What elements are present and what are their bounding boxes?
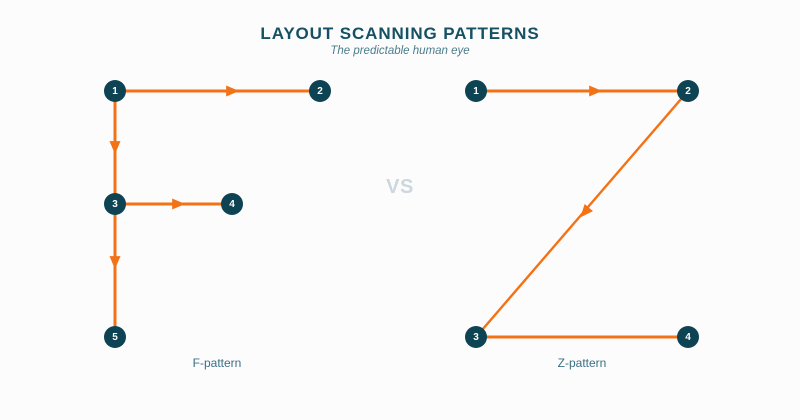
infographic-canvas: LAYOUT SCANNING PATTERNS The predictable… [0,0,800,420]
z-pattern-arrowhead-1-2 [589,86,602,97]
f-pattern-node-2[interactable]: 2 [309,80,331,102]
z-pattern-node-label-4: 4 [685,332,691,343]
f-pattern-arrowhead-1-3 [110,141,121,154]
f-pattern-node-label-4: 4 [229,199,235,210]
f-pattern-arrowhead-3-5 [110,256,121,269]
f-pattern-node-1[interactable]: 1 [104,80,126,102]
f-pattern-node-3[interactable]: 3 [104,193,126,215]
f-pattern-node-label-1: 1 [112,86,118,97]
z-pattern-node-2[interactable]: 2 [677,80,699,102]
z-pattern-node-1[interactable]: 1 [465,80,487,102]
f-pattern-node-5[interactable]: 5 [104,326,126,348]
f-pattern-arrowhead-1-2 [226,86,239,97]
z-pattern-node-label-3: 3 [473,332,479,343]
z-pattern-node-3[interactable]: 3 [465,326,487,348]
z-pattern-node-label-2: 2 [685,86,691,97]
f-pattern-node-label-5: 5 [112,332,118,343]
z-pattern-caption: Z-pattern [462,356,702,370]
f-pattern-node-4[interactable]: 4 [221,193,243,215]
f-pattern-arrowhead-3-4 [172,199,185,210]
f-pattern-node-label-3: 3 [112,199,118,210]
f-pattern-node-label-2: 2 [317,86,323,97]
z-pattern-node-label-1: 1 [473,86,479,97]
f-pattern-caption: F-pattern [97,356,337,370]
z-pattern-diagram: 1234 [465,80,699,348]
f-pattern-diagram: 12345 [104,80,331,348]
z-pattern-node-4[interactable]: 4 [677,326,699,348]
